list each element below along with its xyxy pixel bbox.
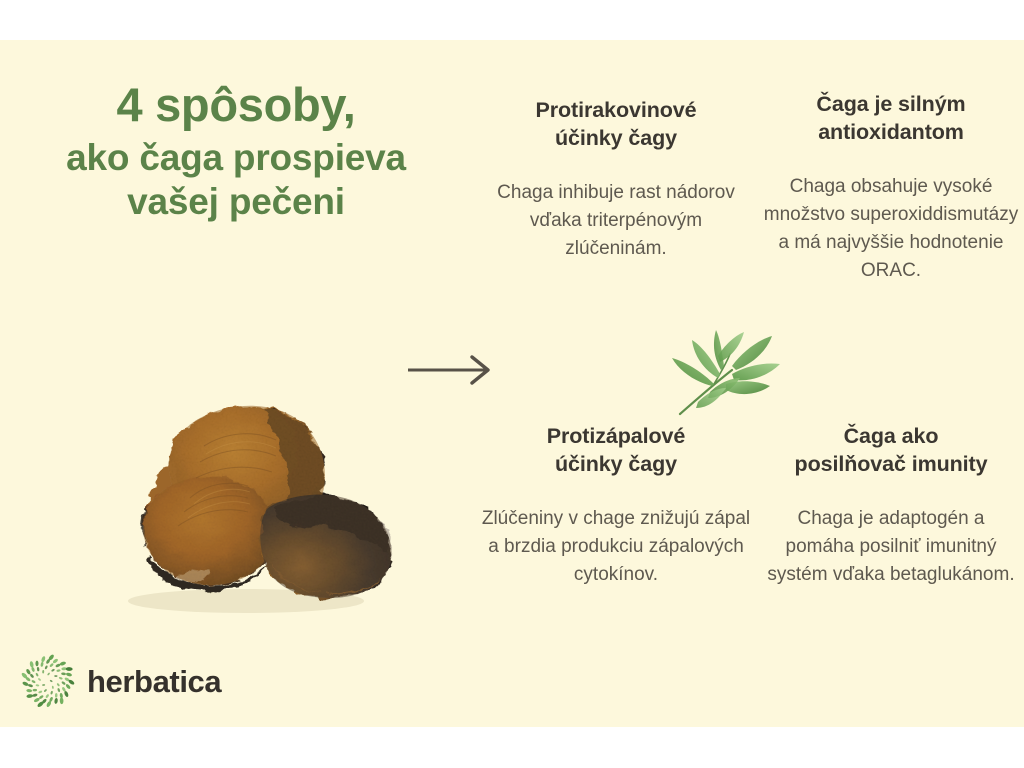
chaga-mushroom-image <box>78 358 408 620</box>
benefit-card-anticancer: Protirakovinové účinky čagy Chaga inhibu… <box>478 96 754 263</box>
benefit-heading-line-2: účinky čagy <box>555 452 677 476</box>
benefit-card-immunity: Čaga ako posilňovač imunity Chaga je ada… <box>762 422 1020 589</box>
benefit-body: Chaga je adaptogén a pomáha posilniť imu… <box>762 505 1020 589</box>
benefit-body: Chaga inhibuje rast nádorov vďaka triter… <box>478 179 754 263</box>
infographic-poster: 4 spôsoby, ako čaga prospieva vašej peče… <box>0 0 1024 768</box>
benefit-heading-line-1: Čaga ako <box>844 424 939 448</box>
benefit-heading-line-1: Čaga je silným <box>816 92 965 116</box>
herbatica-spiral-leaf-logo-icon <box>20 653 76 709</box>
brand-logo: herbatica <box>20 653 221 709</box>
leaf-branch-icon <box>658 322 788 420</box>
benefit-body: Zlúčeniny v chage znižujú zápal a brzdia… <box>478 505 754 589</box>
benefit-heading: Čaga ako posilňovač imunity <box>762 422 1020 479</box>
benefit-heading: Čaga je silným antioxidantom <box>762 90 1020 147</box>
benefit-heading: Protirakovinové účinky čagy <box>478 96 754 153</box>
benefit-card-antiinflammatory: Protizápalové účinky čagy Zlúčeniny v ch… <box>478 422 754 589</box>
benefit-body: Chaga obsahuje vysoké množstvo superoxid… <box>762 173 1020 285</box>
benefit-heading-line-1: Protirakovinové <box>536 98 697 122</box>
benefit-heading-line-1: Protizápalové <box>547 424 686 448</box>
headline-line-3: vašej pečeni <box>26 181 446 223</box>
benefit-heading-line-2: posilňovač imunity <box>795 452 988 476</box>
benefit-heading-line-2: antioxidantom <box>818 120 964 144</box>
brand-wordmark: herbatica <box>87 666 221 697</box>
benefit-heading-line-2: účinky čagy <box>555 126 677 150</box>
benefit-heading: Protizápalové účinky čagy <box>478 422 754 479</box>
headline-line-2: ako čaga prospieva <box>26 137 446 179</box>
arrow-right-icon <box>404 352 496 388</box>
benefit-card-antioxidant: Čaga je silným antioxidantom Chaga obsah… <box>762 90 1020 284</box>
headline-line-1: 4 spôsoby, <box>26 78 446 131</box>
page-title: 4 spôsoby, ako čaga prospieva vašej peče… <box>26 78 446 223</box>
